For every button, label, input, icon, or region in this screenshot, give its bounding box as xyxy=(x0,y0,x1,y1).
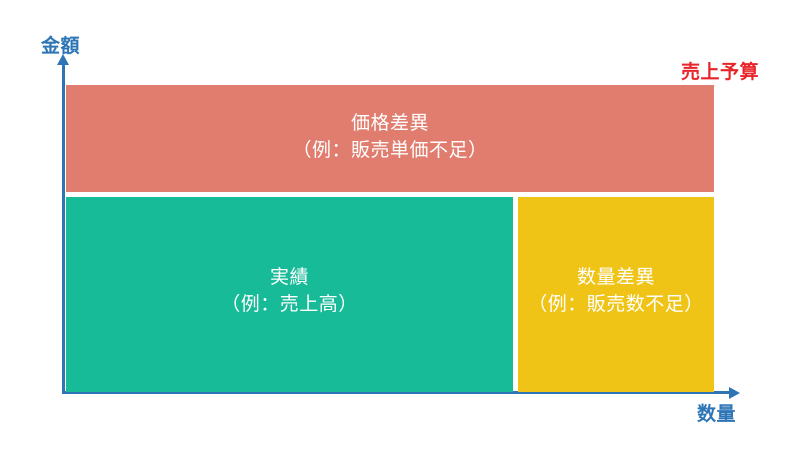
x-axis-label: 数量 xyxy=(697,399,736,426)
block-price-variance-title: 価格差異 xyxy=(292,110,487,136)
block-volume-variance: 数量差異 （例：販売数不足） xyxy=(518,197,714,392)
budget-callout-label: 売上予算 xyxy=(681,57,759,84)
block-actual-title: 実績 xyxy=(221,264,358,290)
block-actual: 実績 （例：売上高） xyxy=(66,197,513,392)
block-volume-variance-subtitle: （例：販売数不足） xyxy=(528,291,704,317)
y-axis-label: 金額 xyxy=(41,31,80,58)
block-price-variance-subtitle: （例：販売単価不足） xyxy=(292,137,487,163)
block-price-variance-text: 価格差異 （例：販売単価不足） xyxy=(292,110,487,162)
block-volume-variance-title: 数量差異 xyxy=(528,264,704,290)
block-actual-text: 実績 （例：売上高） xyxy=(221,264,358,316)
y-axis-line xyxy=(62,62,65,394)
variance-analysis-diagram: 金額 数量 売上予算 価格差異 （例：販売単価不足） 実績 （例：売上高） 数量… xyxy=(0,0,800,450)
block-actual-subtitle: （例：売上高） xyxy=(221,291,358,317)
block-price-variance: 価格差異 （例：販売単価不足） xyxy=(66,85,714,192)
x-axis-arrow-icon xyxy=(729,387,740,399)
block-volume-variance-text: 数量差異 （例：販売数不足） xyxy=(528,264,704,316)
